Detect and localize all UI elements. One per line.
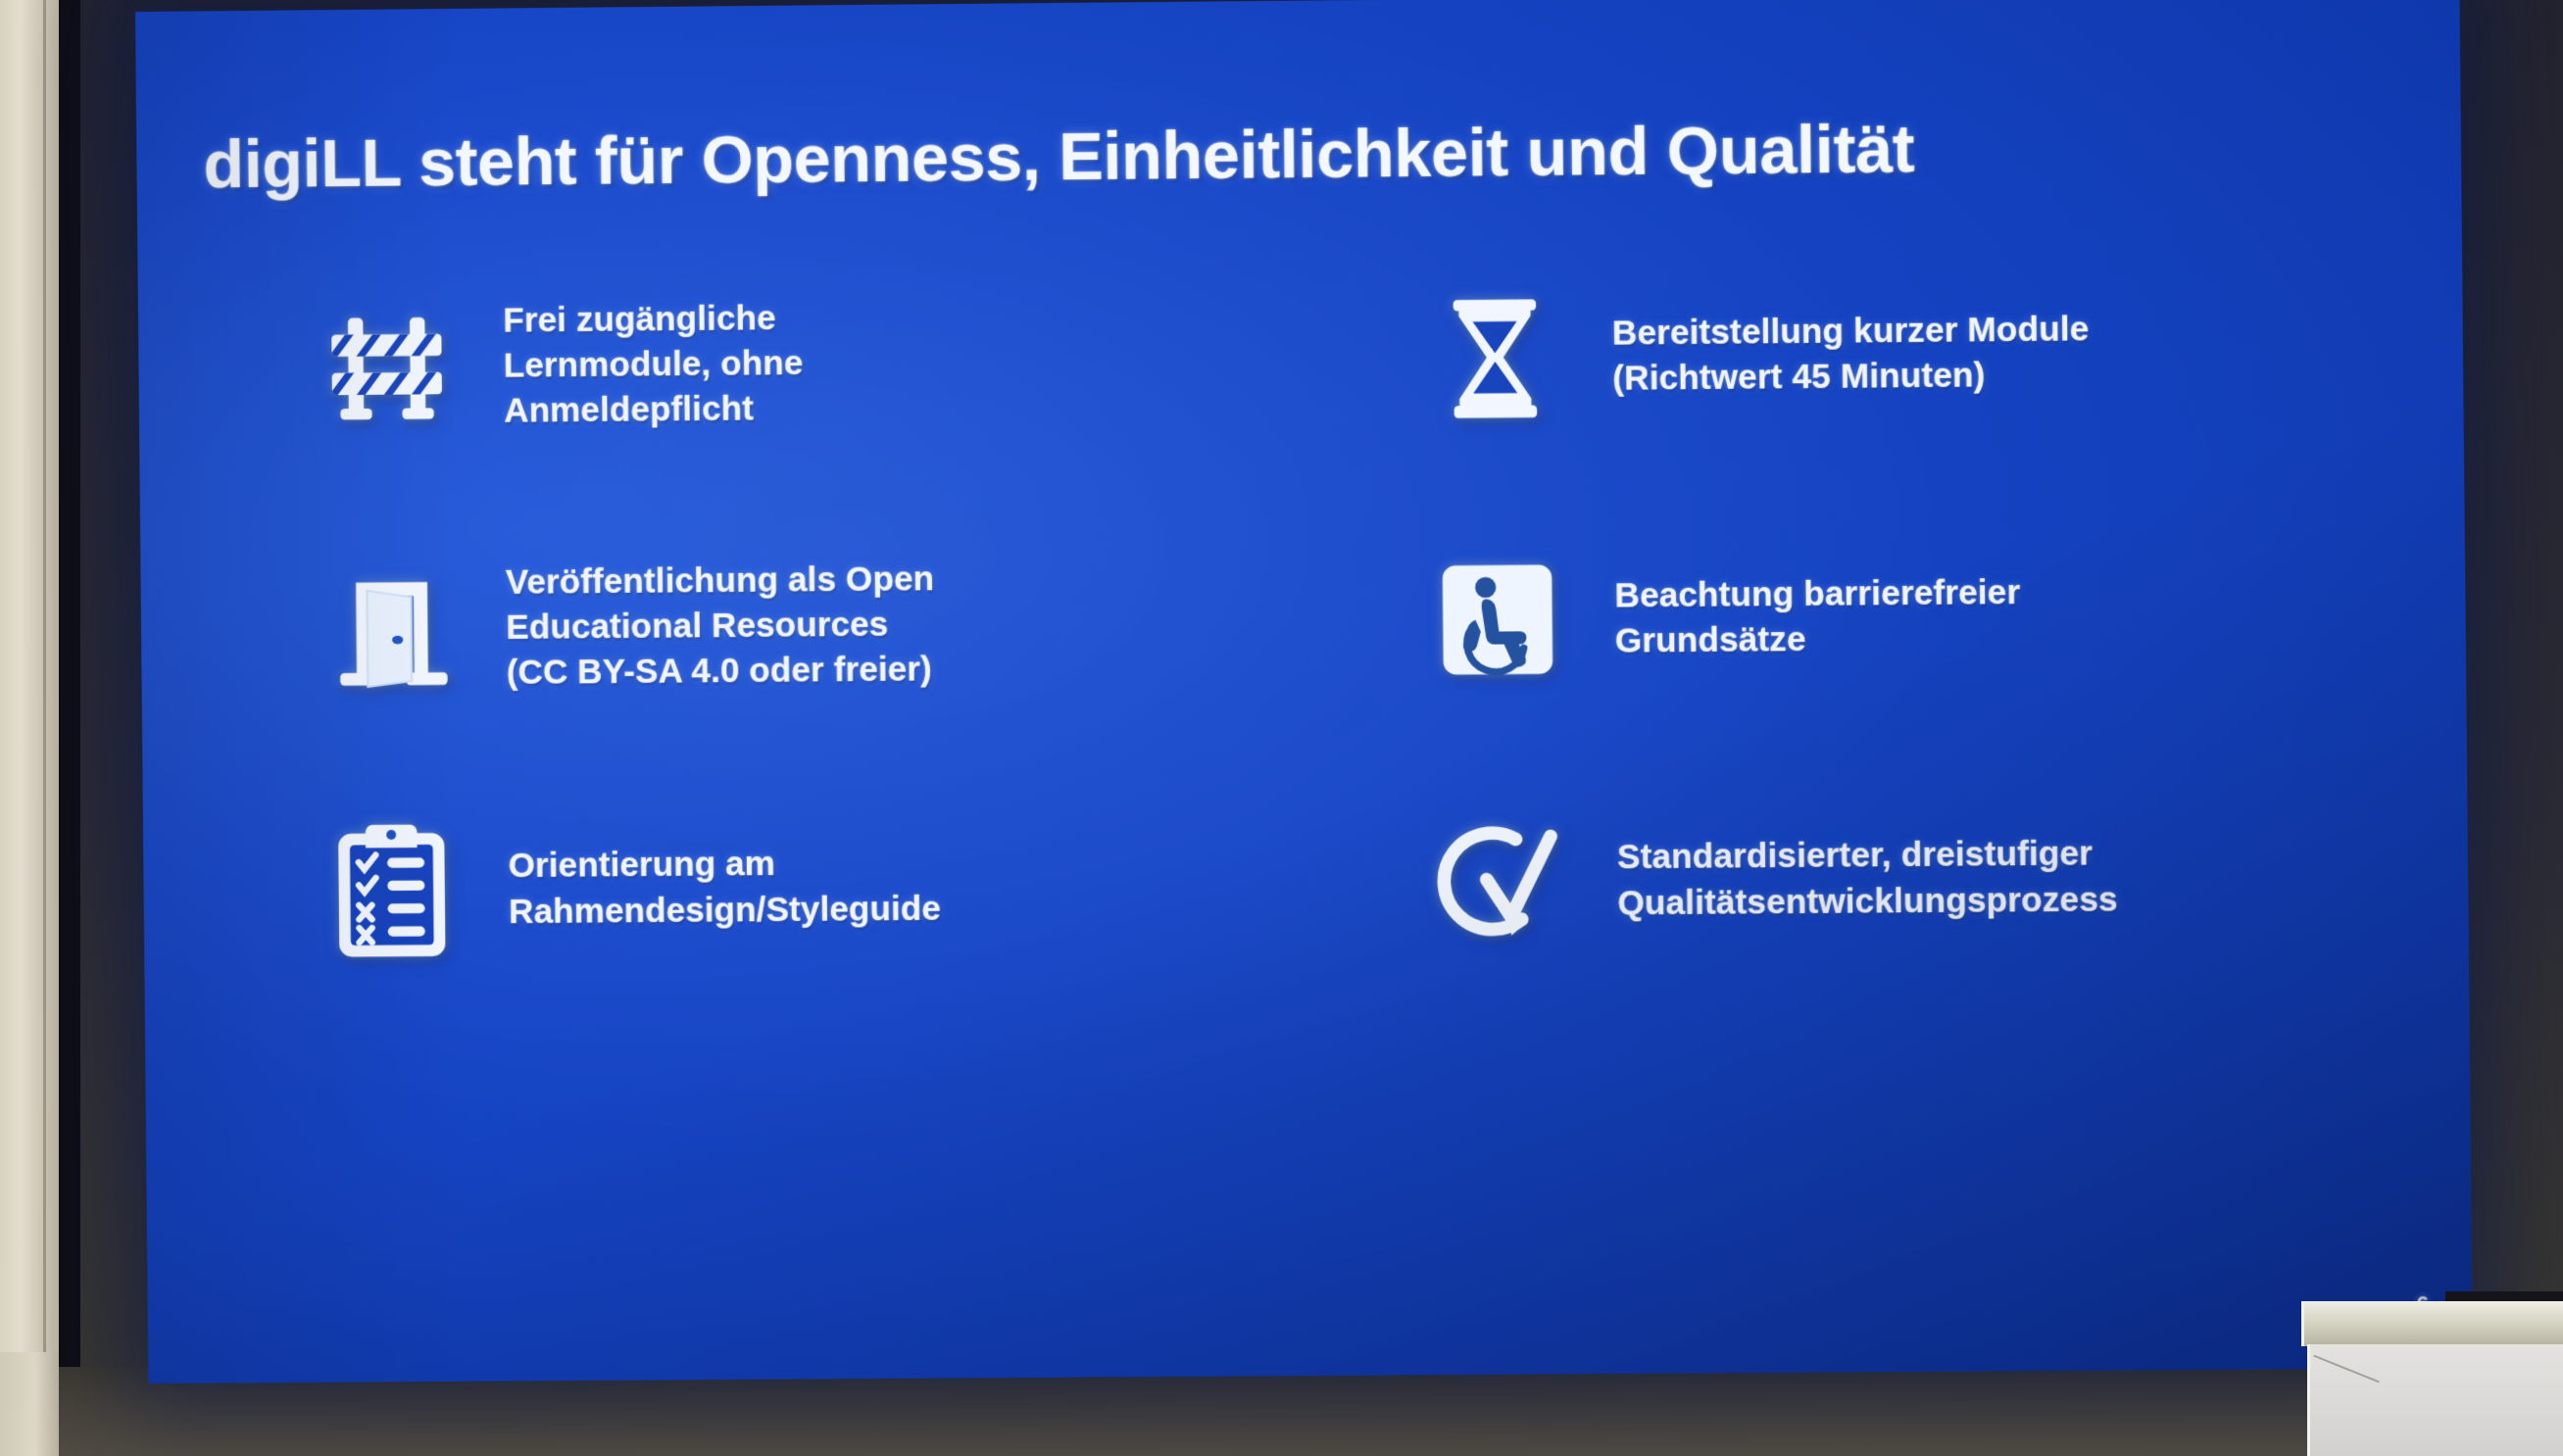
- page-title: digiLL steht für Openness, Einheitlichke…: [203, 107, 2370, 204]
- feature-line: (CC BY-SA 4.0 oder freier): [507, 647, 936, 696]
- projected-slide-area: digiLL steht für Openness, Einheitlichke…: [135, 0, 2473, 1383]
- feature-line: Qualitätsentwicklungsprozess: [1617, 877, 2118, 926]
- feature-item-accessibility: Beachtung barrierefreier Grundsätze: [1314, 481, 2408, 752]
- feature-grid: Frei zugängliche Lernmodule, ohne Anmeld…: [196, 218, 2410, 1023]
- check-cycle-icon: [1425, 807, 1574, 956]
- feature-item-oer: Veröffentlichung als Open Educational Re…: [199, 491, 1287, 761]
- feature-text: Veröffentlichung als Open Educational Re…: [506, 557, 936, 696]
- feature-text: Beachtung barrierefreier Grundsätze: [1614, 570, 2021, 664]
- flipchart: [2284, 1291, 2563, 1456]
- feature-line: Orientierung am: [508, 841, 940, 890]
- feature-text: Standardisierter, dreistufiger Qualitäts…: [1617, 832, 2118, 927]
- feature-line: Grundsätze: [1615, 615, 2021, 664]
- clipboard-checklist-icon: [318, 816, 467, 964]
- feature-line: Rahmendesign/Styleguide: [509, 886, 941, 935]
- feature-text: Frei zugängliche Lernmodule, ohne Anmeld…: [503, 296, 804, 434]
- wheelchair-accessibility-icon: [1423, 546, 1572, 695]
- feature-line: Lernmodule, ohne: [504, 341, 804, 389]
- open-door-icon: [315, 555, 464, 703]
- feature-text: Bereitstellung kurzer Module (Richtwert …: [1612, 307, 2091, 402]
- feature-item-free-access: Frei zugängliche Lernmodule, ohne Anmeld…: [196, 228, 1284, 500]
- barrier-icon: [313, 293, 462, 441]
- feature-line: Veröffentlichung als Open: [506, 557, 935, 606]
- feature-item-quality-process: Standardisierter, dreistufiger Qualitäts…: [1316, 744, 2410, 1014]
- wall-strip-lower: [0, 1352, 59, 1456]
- wall-seam: [43, 0, 46, 1456]
- feature-line: Anmeldepflicht: [504, 386, 804, 434]
- room-scene: digiLL steht für Openness, Einheitlichke…: [0, 0, 2563, 1456]
- hourglass-icon: [1420, 283, 1569, 432]
- feature-line: Standardisierter, dreistufiger: [1617, 832, 2118, 881]
- flipchart-paper: [2307, 1344, 2563, 1456]
- feature-line: Beachtung barrierefreier: [1614, 570, 2020, 619]
- presentation-slide: digiLL steht für Openness, Einheitlichke…: [135, 0, 2473, 1383]
- flipchart-rail: [2301, 1301, 2563, 1346]
- screen-left-edge: [59, 0, 80, 1456]
- wall-strip: [0, 0, 59, 1456]
- feature-line: (Richtwert 45 Minuten): [1612, 353, 2090, 403]
- feature-line: Frei zugängliche: [503, 296, 803, 344]
- feature-line: Bereitstellung kurzer Module: [1612, 307, 2090, 357]
- feature-text: Orientierung am Rahmendesign/Styleguide: [508, 841, 941, 935]
- feature-item-styleguide: Orientierung am Rahmendesign/Styleguide: [201, 752, 1289, 1023]
- feature-item-short-modules: Bereitstellung kurzer Module (Richtwert …: [1311, 218, 2405, 490]
- feature-line: Educational Resources: [506, 602, 935, 651]
